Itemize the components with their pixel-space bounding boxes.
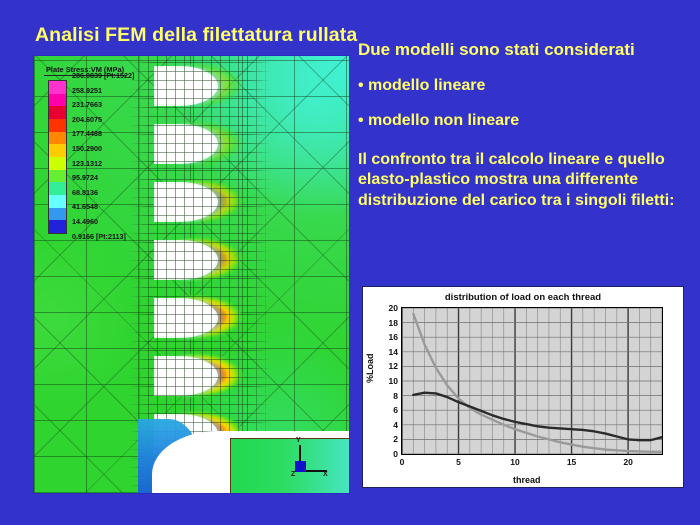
chart-plot-area: 0246810121416182005101520 — [401, 307, 663, 455]
fem-legend: Plate Stress:VM (MPa) 286.0839 [Pt:1522]… — [38, 59, 168, 240]
page-title: Analisi FEM della filettatura rullata — [35, 24, 357, 47]
chart-ytick-label: 20 — [389, 303, 398, 313]
right-text-column: Due modelli sono stati considerati •mode… — [358, 40, 694, 212]
chart-ytick-label: 12 — [389, 361, 398, 371]
triad-label-x: X — [323, 471, 328, 478]
chart-ytick-label: 8 — [393, 391, 398, 401]
triad-label-y: Y — [296, 437, 301, 444]
chart-x-axis-label: thread — [513, 475, 541, 485]
chart-ytick-label: 4 — [393, 420, 398, 430]
chart-xtick-label: 5 — [456, 457, 461, 467]
legend-tick-7: 95.9724 — [72, 174, 134, 181]
chart-ytick-label: 18 — [389, 318, 398, 328]
legend-color-band — [49, 182, 66, 195]
chart-xtick-label: 20 — [623, 457, 632, 467]
text-paragraph: Il confronto tra il calcolo lineare e qu… — [358, 150, 694, 212]
legend-color-band — [49, 220, 66, 233]
legend-tick-8: 68.8136 — [72, 189, 134, 196]
legend-tick-3: 204.6075 — [72, 116, 134, 123]
bullet-marker: • — [358, 112, 368, 130]
legend-tick-labels: 286.0839 [Pt:1522]258.9251231.7663204.60… — [72, 72, 134, 240]
legend-color-band — [49, 119, 66, 132]
legend-tick-0: 286.0839 [Pt:1522] — [72, 72, 134, 79]
legend-color-band — [49, 106, 66, 119]
bullet-list: •modello lineare•modello non lineare — [358, 77, 694, 130]
legend-color-band — [49, 157, 66, 170]
text-heading: Due modelli sono stati considerati — [358, 40, 694, 60]
bullet-label: modello lineare — [368, 77, 485, 94]
legend-color-band — [49, 81, 66, 94]
legend-tick-10: 14.4960 — [72, 218, 134, 225]
legend-tick-9: 41.6548 — [72, 203, 134, 210]
chart-ytick-label: 10 — [389, 376, 398, 386]
bullet-label: modello non lineare — [368, 112, 519, 129]
axis-triad-icon: Y X Z — [285, 443, 331, 483]
legend-tick-5: 150.2900 — [72, 145, 134, 152]
legend-tick-4: 177.4488 — [72, 130, 134, 137]
legend-color-band — [49, 195, 66, 208]
legend-tick-11: 0.9166 [Pt:2113] — [72, 233, 134, 240]
chart-ytick-label: 16 — [389, 332, 398, 342]
legend-color-band — [49, 208, 66, 221]
chart-y-axis-label: %Load — [365, 353, 375, 383]
triad-origin-marker — [295, 461, 306, 472]
slide-root: Analisi FEM della filettatura rullata — [0, 0, 700, 525]
chart-xtick-label: 0 — [400, 457, 405, 467]
bullet-item-0: •modello lineare — [358, 77, 694, 95]
chart-title: distribution of load on each thread — [363, 292, 683, 303]
legend-color-band — [49, 144, 66, 157]
legend-tick-2: 231.7663 — [72, 101, 134, 108]
chart-xtick-label: 15 — [567, 457, 576, 467]
chart-ytick-label: 6 — [393, 405, 398, 415]
triad-label-z: Z — [291, 471, 295, 478]
chart-ytick-label: 2 — [393, 434, 398, 444]
chart-xtick-label: 10 — [510, 457, 519, 467]
chart-ytick-label: 0 — [393, 449, 398, 459]
legend-color-band — [49, 170, 66, 183]
legend-tick-1: 258.9251 — [72, 87, 134, 94]
legend-color-band — [49, 132, 66, 145]
chart-canvas — [402, 308, 662, 454]
load-distribution-chart: distribution of load on each thread %Loa… — [362, 286, 684, 488]
bullet-item-1: •modello non lineare — [358, 112, 694, 130]
legend-colorbar — [48, 80, 67, 234]
legend-color-band — [49, 94, 66, 107]
bullet-marker: • — [358, 77, 368, 95]
fem-contour-plot: Plate Stress:VM (MPa) 286.0839 [Pt:1522]… — [33, 55, 350, 494]
chart-ytick-label: 14 — [389, 347, 398, 357]
legend-tick-6: 123.1312 — [72, 160, 134, 167]
